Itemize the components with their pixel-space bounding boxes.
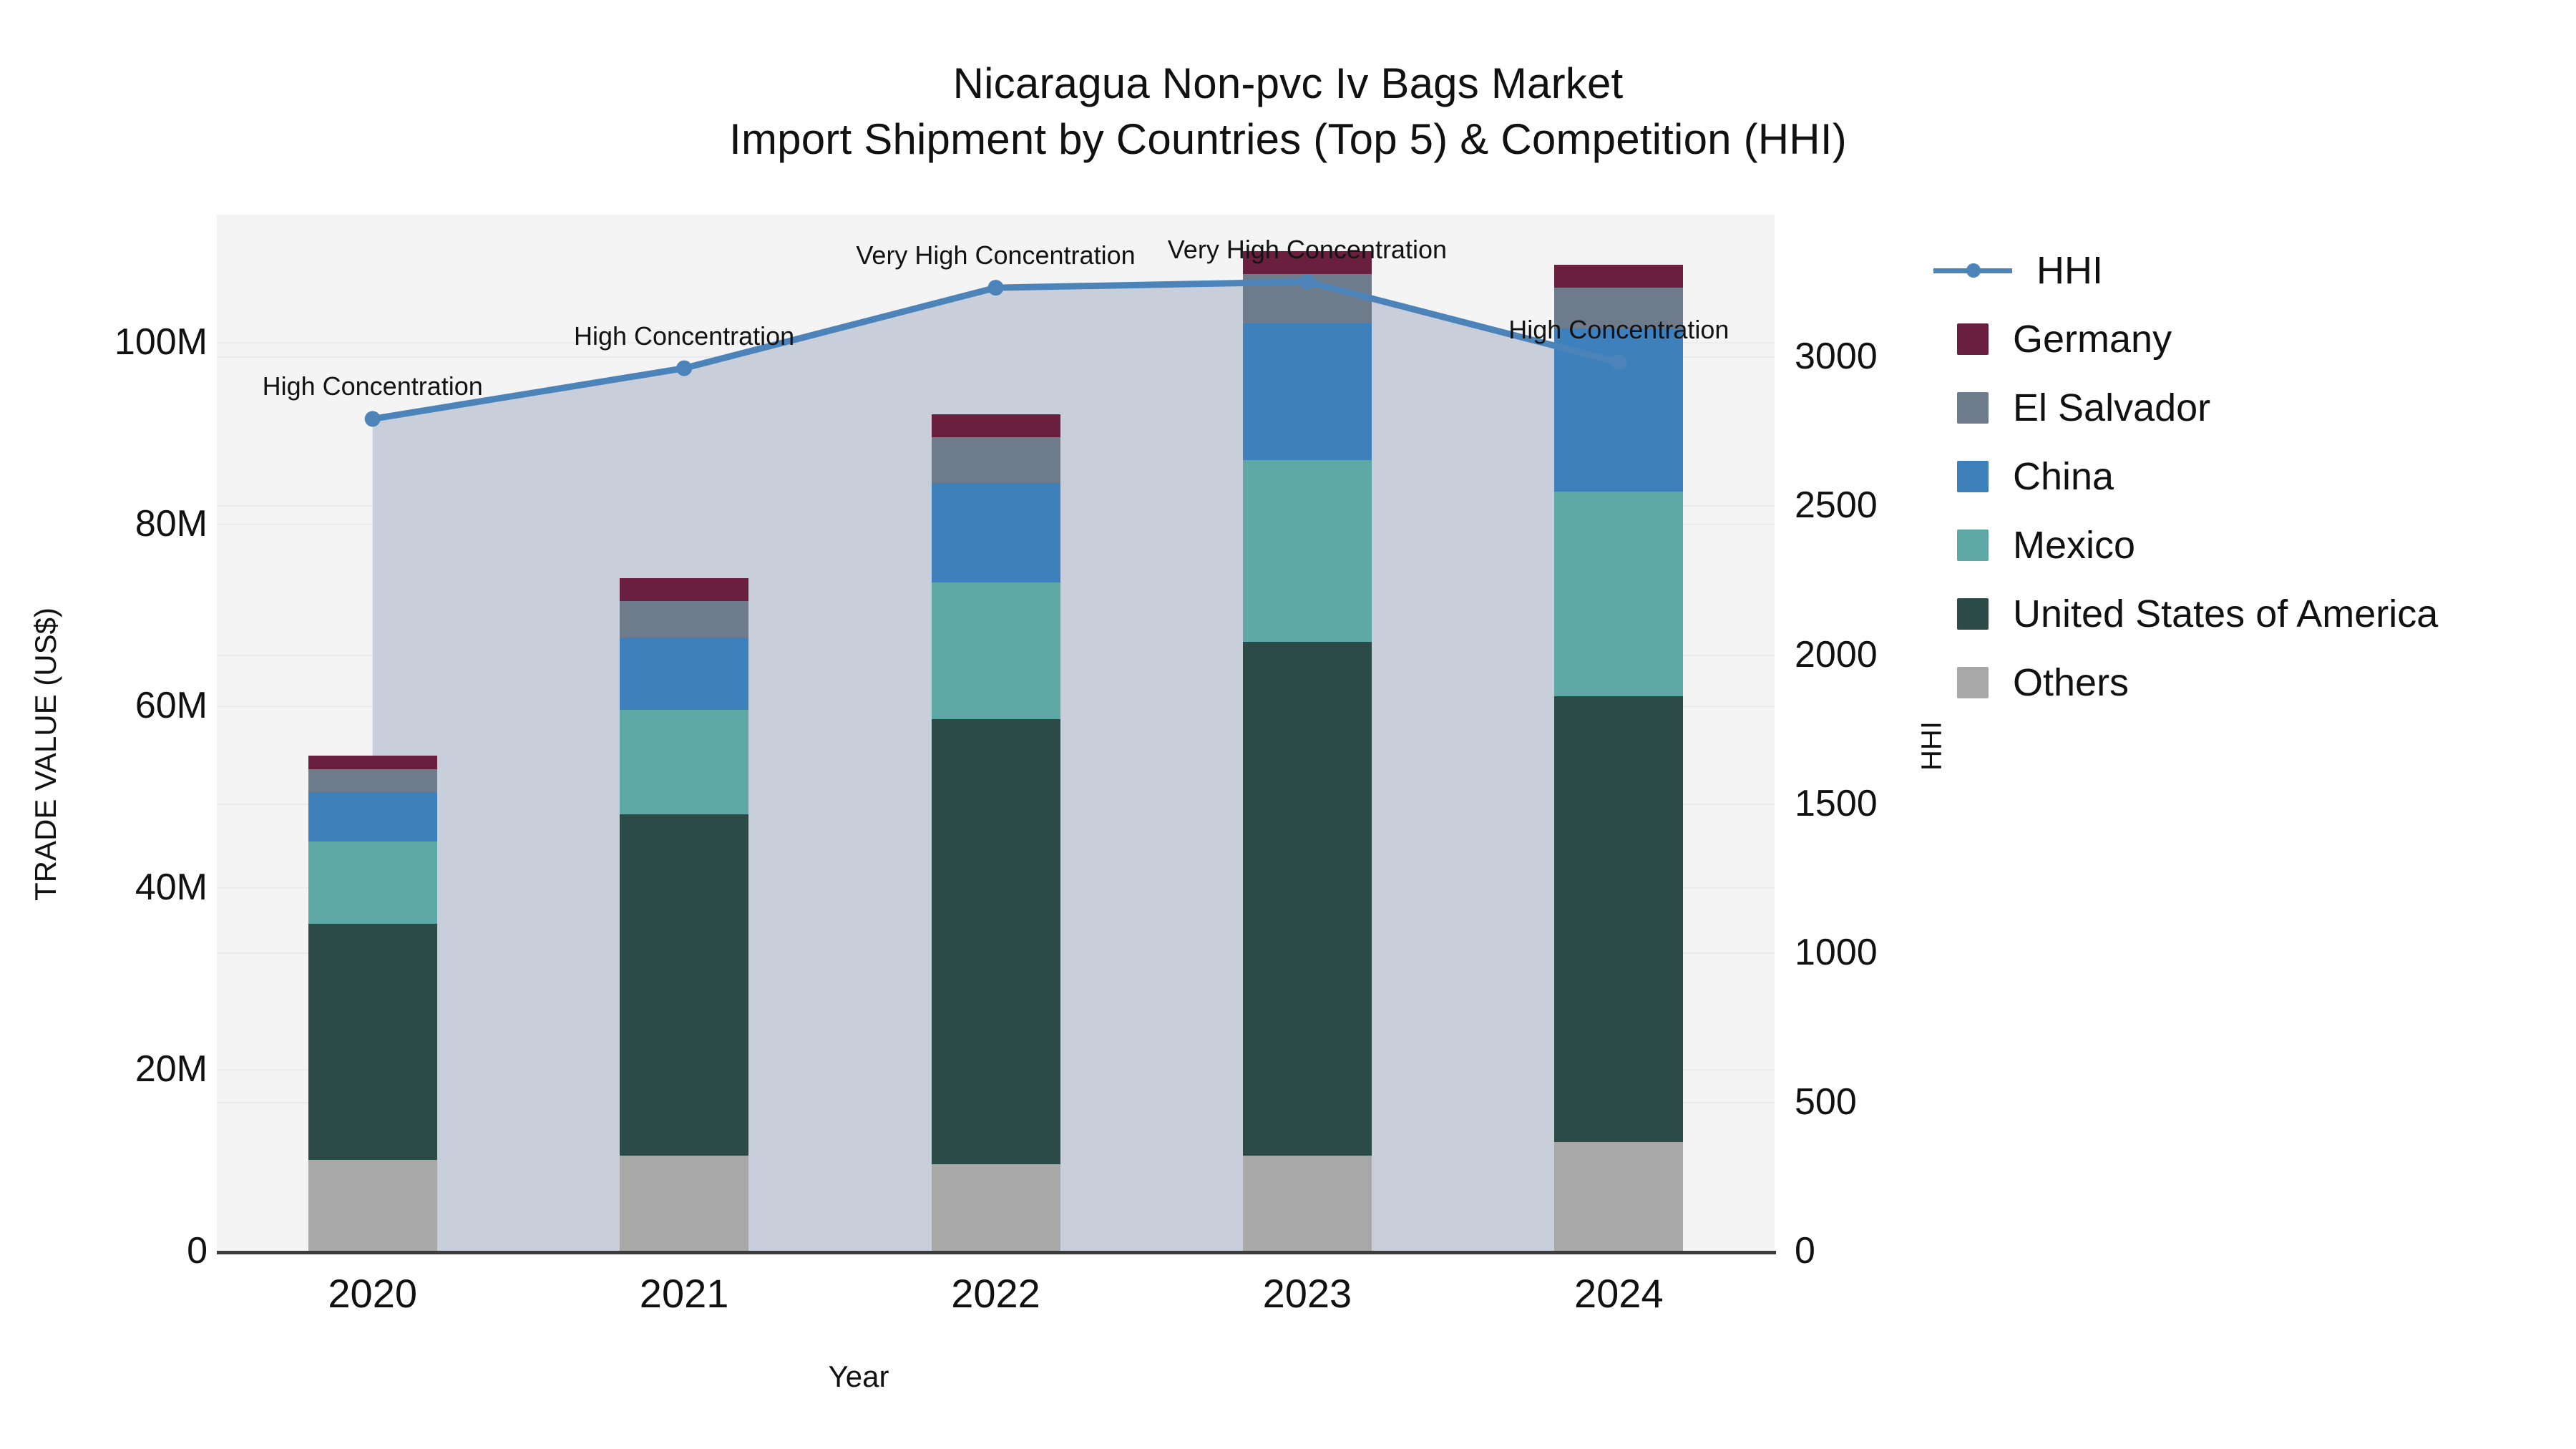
legend-item-label: El Salvador: [2013, 386, 2210, 430]
legend: HHIGermanyEl SalvadorChinaMexicoUnited S…: [1957, 236, 2551, 717]
x-axis-line: [217, 1251, 1776, 1254]
legend-swatch-icon: [1957, 530, 1989, 561]
hhi-marker-2022[interactable]: [988, 280, 1004, 296]
hhi-marker-2021[interactable]: [676, 361, 692, 376]
legend-item-label: Others: [2013, 660, 2129, 705]
hhi-marker-2020[interactable]: [365, 411, 381, 426]
hhi-annotation-2020: High Concentration: [263, 371, 483, 401]
x-axis-tick-2023: 2023: [1263, 1270, 1352, 1317]
legend-item-label: China: [2013, 454, 2114, 499]
y-axis-right-tick-3: 1500: [1795, 782, 1878, 825]
legend-item-label: HHI: [2036, 248, 2103, 293]
legend-item-label: United States of America: [2013, 592, 2438, 636]
legend-item-hhi[interactable]: HHI: [1957, 236, 2551, 305]
x-axis-tick-2020: 2020: [328, 1270, 417, 1317]
y-axis-right-tick-1: 500: [1795, 1080, 1857, 1123]
y-axis-right-tick-0: 0: [1795, 1229, 1815, 1272]
legend-item-others[interactable]: Others: [1957, 648, 2551, 717]
y-axis-left-tick-0: 0: [0, 1229, 208, 1272]
legend-swatch-icon: [1957, 461, 1989, 492]
y-axis-left-tick-5: 100M: [0, 321, 208, 364]
chart-title-line-1: Nicaragua Non-pvc Iv Bags Market: [0, 56, 2576, 112]
legend-line-icon: [1933, 255, 2012, 286]
hhi-annotation-2022: Very High Concentration: [856, 240, 1135, 270]
x-axis-tick-2022: 2022: [951, 1270, 1040, 1317]
legend-item-mexico[interactable]: Mexico: [1957, 511, 2551, 580]
hhi-annotation-2024: High Concentration: [1508, 315, 1729, 345]
hhi-marker-2023[interactable]: [1299, 274, 1315, 290]
x-axis-tick-2021: 2021: [640, 1270, 729, 1317]
x-axis-tick-2024: 2024: [1574, 1270, 1664, 1317]
legend-item-label: Mexico: [2013, 523, 2135, 567]
x-axis-title: Year: [0, 1360, 1717, 1394]
legend-item-label: Germany: [2013, 317, 2172, 361]
chart-title-line-2: Import Shipment by Countries (Top 5) & C…: [0, 112, 2576, 167]
hhi-annotation-2023: Very High Concentration: [1168, 235, 1447, 265]
plot-area: [217, 215, 1775, 1251]
y-axis-left-title: TRADE VALUE (US$): [29, 504, 63, 1005]
hhi-annotation-2021: High Concentration: [574, 321, 794, 351]
legend-item-china[interactable]: China: [1957, 442, 2551, 511]
y-axis-left-tick-1: 20M: [0, 1048, 208, 1091]
y-axis-right-title: HHI: [1916, 639, 1948, 854]
y-axis-right-tick-6: 3000: [1795, 335, 1878, 378]
legend-item-el-salvador[interactable]: El Salvador: [1957, 374, 2551, 442]
y-axis-right-tick-2: 1000: [1795, 931, 1878, 974]
legend-swatch-icon: [1957, 598, 1989, 630]
legend-swatch-icon: [1957, 323, 1989, 355]
hhi-polyline: [373, 282, 1619, 419]
y-axis-right-tick-5: 2500: [1795, 484, 1878, 527]
y-axis-right-tick-4: 2000: [1795, 633, 1878, 676]
legend-item-germany[interactable]: Germany: [1957, 305, 2551, 374]
legend-swatch-icon: [1957, 392, 1989, 424]
hhi-line-series: [217, 215, 1775, 1251]
legend-swatch-icon: [1957, 667, 1989, 698]
hhi-marker-2024[interactable]: [1611, 354, 1626, 370]
chart-title: Nicaragua Non-pvc Iv Bags Market Import …: [0, 56, 2576, 167]
legend-item-united-states-of-america[interactable]: United States of America: [1957, 580, 2551, 648]
